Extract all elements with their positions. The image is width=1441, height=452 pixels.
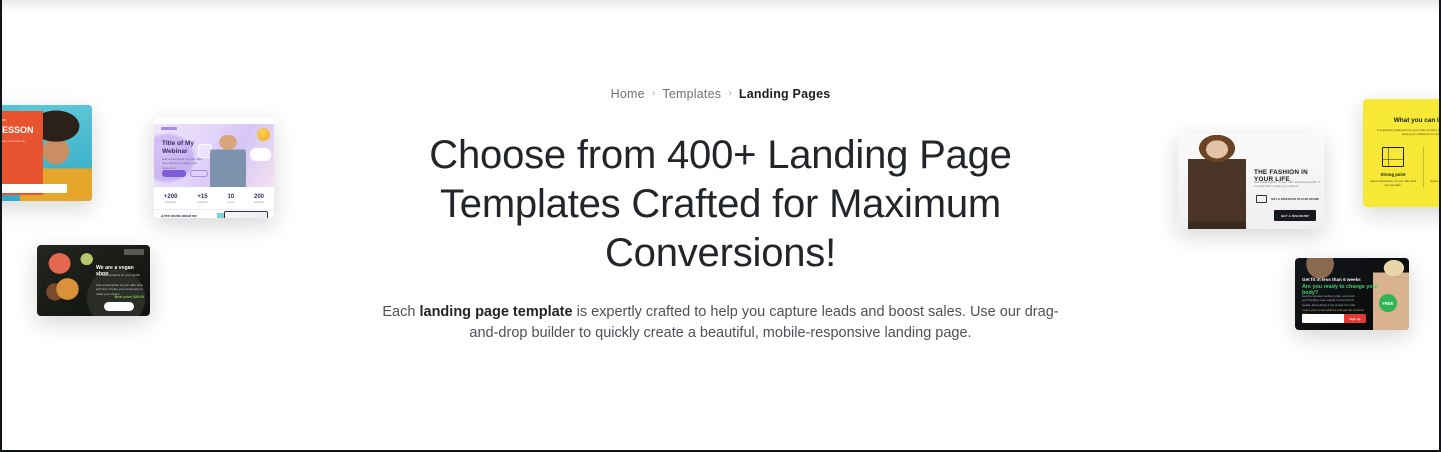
yellow-card-column-text: Add a description of your offer and key … (1430, 179, 1441, 188)
fitness-card-paragraph: Get the sweater workout plan, and work y… (1302, 294, 1358, 307)
vegan-card-cta[interactable] (104, 302, 134, 311)
webinar-stat-value: +15 (197, 194, 208, 201)
template-card-fitness[interactable]: FREE Get fit in less than 6 weeks Are yo… (1295, 258, 1409, 330)
template-card-webinar[interactable]: Title of My Webinar Add a description of… (154, 117, 274, 218)
breadcrumb-item-landing-pages: Landing Pages (739, 88, 831, 101)
registration-card-title: BEST LESSON (0, 125, 37, 135)
webinar-stat-value: 10 (228, 194, 235, 201)
webinar-card-speech-bubble (250, 148, 271, 161)
webinar-stat: 10 hours (228, 194, 235, 204)
fashion-card-photo (1188, 133, 1246, 229)
webinar-card-cta-secondary[interactable] (190, 170, 208, 177)
webinar-stat: +15 speakers (197, 194, 208, 204)
fitness-card-signup-label: Sign up (1350, 317, 1361, 321)
webinar-stat-label: speakers (197, 201, 208, 204)
webinar-card-device-mockup (224, 211, 268, 218)
document-icon (1382, 147, 1404, 167)
webinar-card-photo (210, 135, 246, 187)
browser-viewport: REGISTRATION NOW! BEST LESSON Register f… (0, 0, 1441, 452)
fitness-card-title-line1: Get fit in less than 6 weeks (1302, 277, 1376, 282)
registration-card-email-input[interactable] (0, 184, 67, 193)
fitness-card-email-input[interactable] (1302, 314, 1344, 323)
vegan-card-price: Best price $25.00 (96, 295, 144, 299)
registration-card-sub: Register for your first class, customers… (0, 139, 37, 143)
template-card-fashion[interactable]: THE FASHION IN YOUR LIFE Add a descripti… (1178, 133, 1324, 229)
breadcrumb: Home › Templates › Landing Pages (371, 88, 1071, 101)
vegan-card-paragraph: The best products for your health (96, 273, 144, 277)
chevron-right-icon: › (652, 88, 656, 99)
top-edge-shading (2, 0, 1439, 14)
fitness-card-signup-button[interactable]: Sign up (1344, 314, 1366, 323)
page-title: Choose from 400+ Landing Page Templates … (401, 131, 1041, 278)
yellow-card-paragraph: A supporting statement for your offer an… (1375, 128, 1441, 137)
page-subtitle: Each landing page template is expertly c… (381, 302, 1061, 344)
yellow-card-column-title: Strong point (1370, 172, 1416, 177)
fashion-card-cta-label: GET A DISCOUNT (1281, 214, 1309, 218)
webinar-card-lower-section: A few words about me (154, 209, 274, 218)
breadcrumb-item-home[interactable]: Home (611, 88, 645, 101)
discount-tag-icon (1256, 195, 1267, 203)
fashion-card-cta[interactable]: GET A DISCOUNT (1274, 210, 1316, 221)
webinar-stat-value: 200 (254, 194, 264, 201)
webinar-card-stats: +200 attendees +15 speakers 10 hours 200… (154, 191, 274, 207)
webinar-stat-label: hours (228, 201, 235, 204)
template-card-registration[interactable]: REGISTRATION NOW! BEST LESSON Register f… (0, 105, 92, 201)
registration-card-kicker: REGISTRATION NOW! (0, 118, 37, 122)
subtitle-highlight: landing page template (419, 304, 572, 320)
yellow-card-column-title: Strong point (1430, 172, 1441, 177)
webinar-card-paragraph: Add a description of your offer here and… (162, 157, 206, 170)
yellow-card-column-text: Add a description of your offer and key … (1370, 179, 1416, 188)
chevron-right-icon: › (728, 88, 732, 99)
free-badge: FREE (1379, 294, 1397, 312)
webinar-stat: 200 sessions (254, 194, 264, 204)
breadcrumb-item-templates[interactable]: Templates (662, 88, 721, 101)
webinar-card-logo (161, 127, 177, 130)
webinar-stat-label: attendees (164, 201, 178, 204)
template-card-vegan-shop[interactable]: We are a vegan shop The best products fo… (37, 245, 150, 316)
webinar-stat-label: sessions (254, 201, 264, 204)
yellow-card-column: Strong point Add a description of your o… (1423, 147, 1441, 188)
vegan-card-logo (124, 249, 144, 255)
fitness-card-signup-form: Sign up (1302, 314, 1366, 323)
webinar-card-dot (257, 128, 270, 141)
free-badge-label: FREE (1382, 301, 1393, 306)
webinar-card-accent-block (217, 213, 224, 218)
fashion-card-paragraph: Add a description of your offer and key … (1254, 180, 1320, 189)
yellow-card-title: What you can learn (1363, 117, 1441, 124)
webinar-stat-value: +200 (164, 194, 178, 201)
hero-section: Home › Templates › Landing Pages Choose … (371, 88, 1071, 344)
webinar-stat: +200 attendees (164, 194, 178, 204)
registration-card-panel: REGISTRATION NOW! BEST LESSON Register f… (0, 111, 43, 195)
webinar-card-cta-primary[interactable] (162, 170, 186, 177)
webinar-card-hero: Title of My Webinar Add a description of… (154, 124, 274, 187)
webinar-card-lower-heading: A few words about me (161, 214, 203, 218)
yellow-card-column: Strong point Add a description of your o… (1363, 147, 1423, 188)
fashion-card-tag-text: GET A DISCOUNT IN OUR STORE (1271, 197, 1323, 201)
subtitle-text-before: Each (382, 304, 419, 320)
yellow-card-columns: Strong point Add a description of your o… (1363, 147, 1441, 188)
template-card-what-you-can-learn[interactable]: What you can learn A supporting statemen… (1363, 99, 1441, 207)
